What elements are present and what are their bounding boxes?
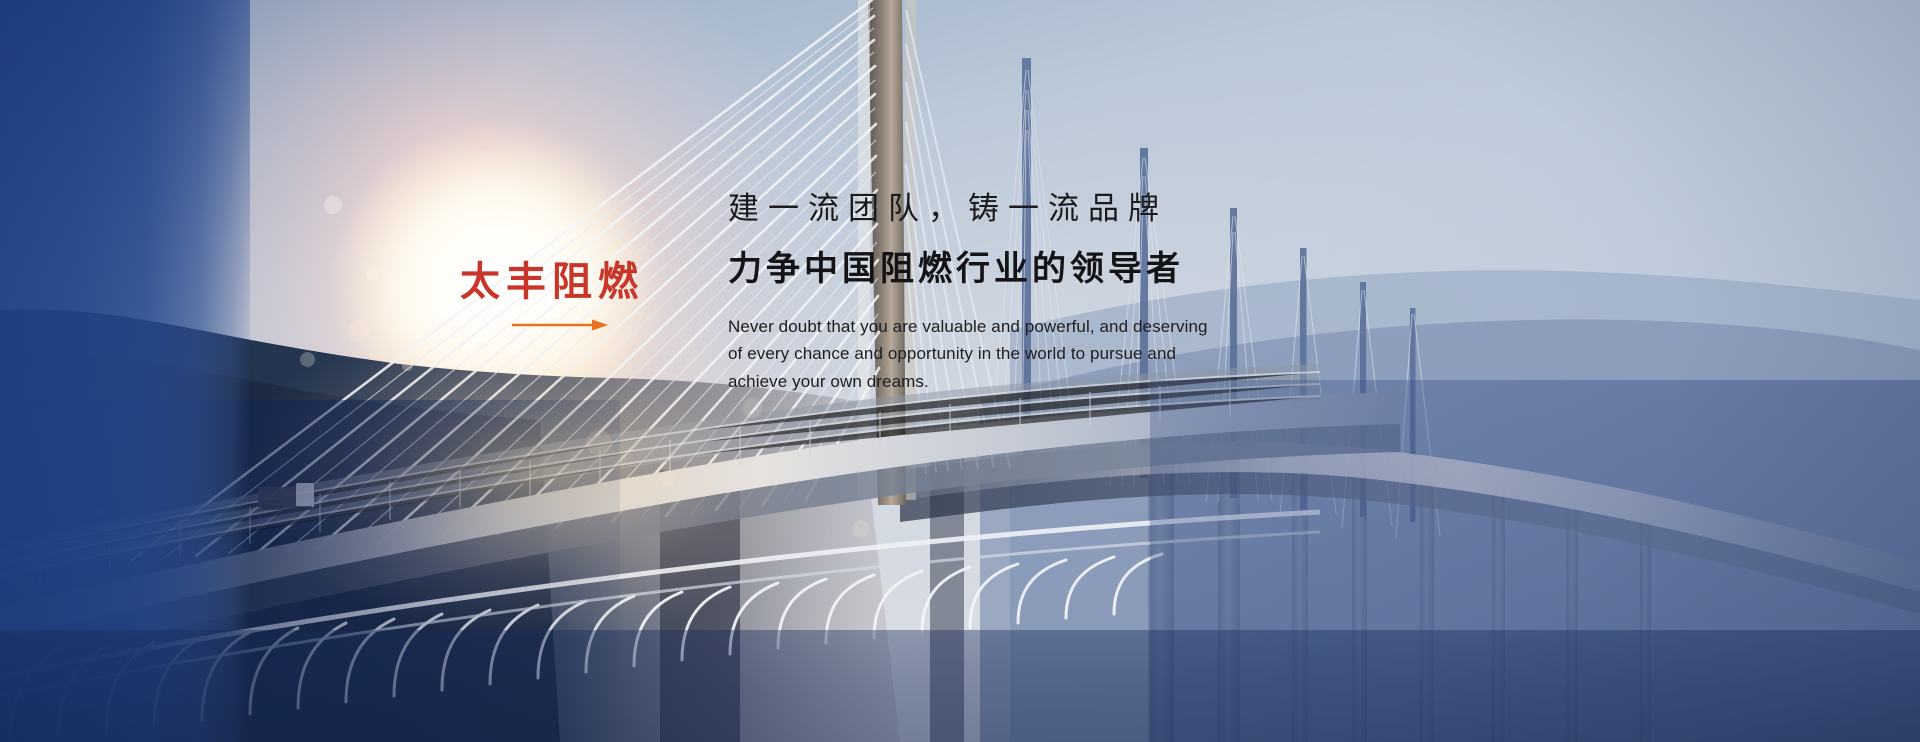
- hero-copy: 建一流团队，铸一流品牌 力争中国阻燃行业的领导者 Never doubt tha…: [728, 190, 1428, 396]
- arrow-right-icon: [512, 318, 680, 337]
- headline-primary: 建一流团队，铸一流品牌: [728, 190, 1428, 229]
- headline-secondary: 力争中国阻燃行业的领导者: [728, 247, 1428, 291]
- hero-banner: 太丰阻燃 建一流团队，铸一流品牌 力争中国阻燃行业的领导者 Never doub…: [0, 0, 1920, 742]
- subcopy-line-2: of every chance and opportunity in the w…: [728, 340, 1428, 368]
- hero-subcopy: Never doubt that you are valuable and po…: [728, 313, 1428, 396]
- subcopy-line-3: achieve your own dreams.: [728, 368, 1428, 396]
- brand-logo[interactable]: 太丰阻燃: [460, 262, 680, 337]
- subcopy-line-1: Never doubt that you are valuable and po…: [728, 313, 1428, 341]
- brand-logo-text: 太丰阻燃: [460, 262, 680, 302]
